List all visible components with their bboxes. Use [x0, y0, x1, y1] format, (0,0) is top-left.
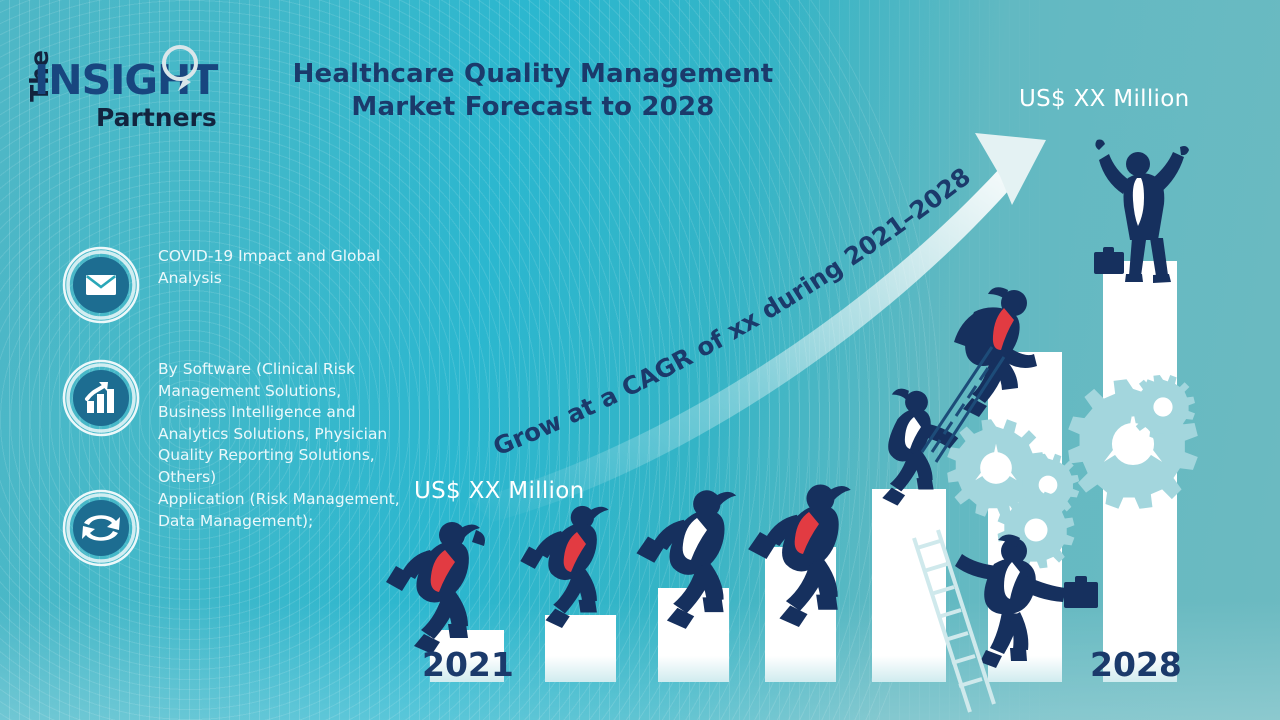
infographic-canvas: The INSIGHT Partners Healthcare Quality …	[0, 0, 1280, 720]
running-businessman-icon	[636, 490, 736, 629]
ladder-icon	[914, 530, 994, 712]
running-businesswoman-icon	[520, 506, 608, 628]
axis-label-end: 2028	[1090, 645, 1182, 684]
value-label-end: US$ XX Million	[1019, 86, 1189, 112]
climbing-businessman-icon	[954, 287, 1037, 417]
running-businessman-icon	[748, 484, 851, 627]
axis-label-start: 2021	[422, 645, 514, 684]
value-label-start: US$ XX Million	[414, 478, 584, 504]
